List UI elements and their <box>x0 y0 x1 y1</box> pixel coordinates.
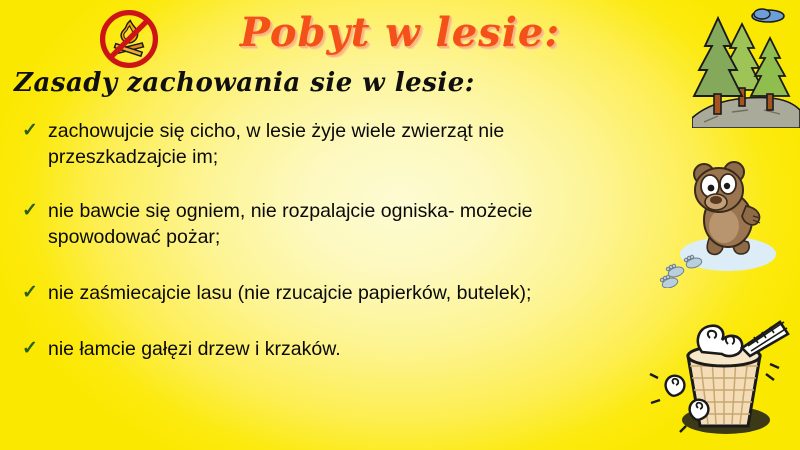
pine-trees-svg <box>692 0 800 128</box>
list-item: ✓ nie łamcie gałęzi drzew i krzaków. <box>22 336 642 362</box>
list-item-text: nie łamcie gałęzi drzew i krzaków. <box>46 336 642 362</box>
title-block: Pobyt w lesie: <box>180 12 620 54</box>
list-item-text: zachowujcie się cicho, w lesie żyje wiel… <box>46 118 642 170</box>
list-item-text: nie zaśmiecajcie lasu (nie rzucajcie pap… <box>46 280 642 306</box>
no-campfire-sign-icon <box>96 6 162 72</box>
list-item: ✓ nie zaśmiecajcie lasu (nie rzucajcie p… <box>22 280 642 306</box>
overflowing-wastebasket-icon <box>648 304 798 450</box>
list-item: ✓ nie bawcie się ogniem, nie rozpalajcie… <box>22 198 642 250</box>
wastebasket-svg <box>648 304 798 450</box>
list-item-text: nie bawcie się ogniem, nie rozpalajcie o… <box>46 198 642 250</box>
checkmark-icon: ✓ <box>22 198 46 224</box>
checkmark-icon: ✓ <box>22 280 46 306</box>
checkmark-icon: ✓ <box>22 118 46 144</box>
rules-list: ✓ zachowujcie się cicho, w lesie żyje wi… <box>22 118 642 388</box>
pine-trees-icon <box>692 0 800 128</box>
brown-bear-svg <box>648 150 798 288</box>
list-item: ✓ zachowujcie się cicho, w lesie żyje wi… <box>22 118 642 170</box>
subtitle-heading: Zasady zachowania sie w lesie: <box>14 68 475 98</box>
checkmark-icon: ✓ <box>22 336 46 362</box>
no-campfire-svg <box>96 6 162 72</box>
brown-bear-icon <box>648 150 798 288</box>
page-title: Pobyt w lesie: <box>180 12 620 54</box>
slide-canvas: Pobyt w lesie: Zasady zachowania sie w l… <box>0 0 800 450</box>
